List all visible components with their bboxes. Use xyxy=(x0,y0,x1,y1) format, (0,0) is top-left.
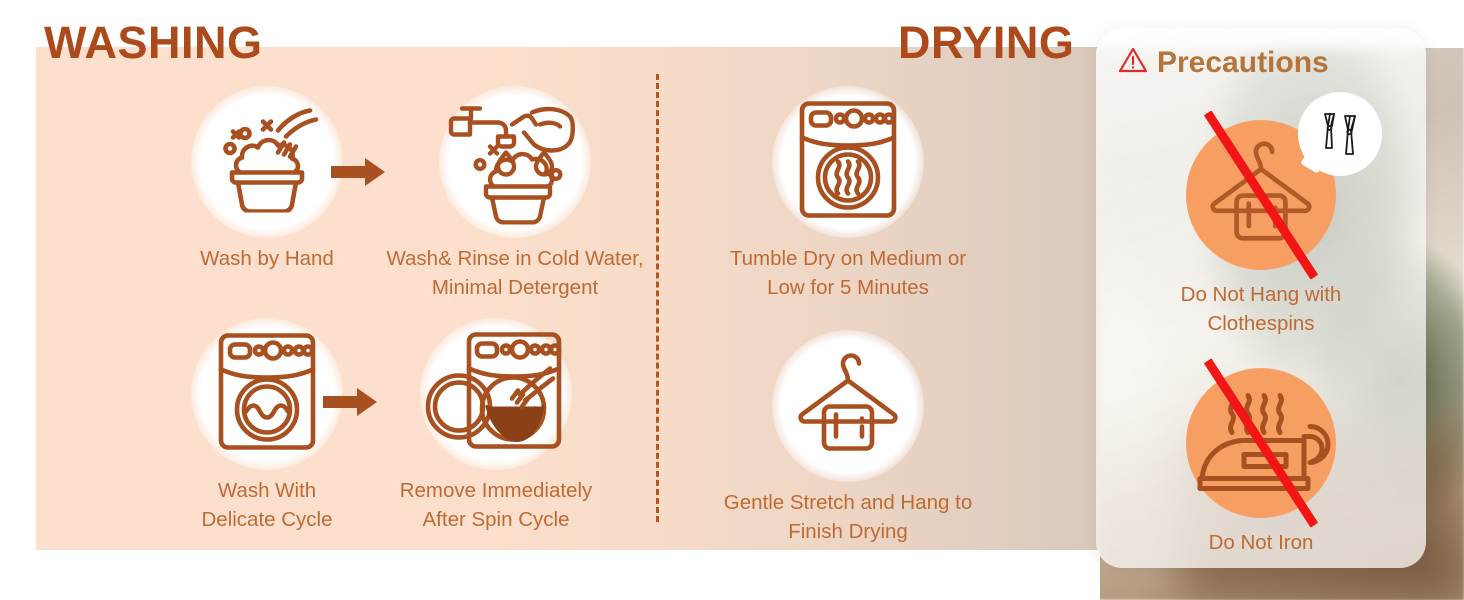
step-wash-rinse-cold-water: Wash& Rinse in Cold Water, Minimal Deter… xyxy=(380,86,650,302)
section-divider xyxy=(656,74,659,522)
icon-disc xyxy=(191,318,343,470)
arrow-right-icon xyxy=(331,155,387,194)
icon-disc xyxy=(420,318,572,470)
step-caption: Wash With Delicate Cycle xyxy=(152,476,382,534)
precaution-caption: Do Not Iron xyxy=(1096,528,1426,557)
left-white-band xyxy=(0,0,40,600)
hanger-cloth-icon xyxy=(786,345,910,468)
precaution-do-not-hang: Do Not Hang with Clothespins xyxy=(1096,120,1426,338)
precaution-caption: Do Not Hang with Clothespins xyxy=(1096,280,1426,338)
step-caption: Wash by Hand xyxy=(152,244,382,273)
precaution-circle xyxy=(1186,120,1336,270)
bottom-white-band xyxy=(0,550,1100,600)
step-remove-immediately: Remove Immediately After Spin Cycle xyxy=(378,318,614,534)
precautions-card: Precautions xyxy=(1096,28,1426,568)
precautions-header: Precautions xyxy=(1118,46,1329,79)
step-caption: Wash& Rinse in Cold Water, Minimal Deter… xyxy=(380,244,650,302)
precaution-circle xyxy=(1186,368,1336,518)
precaution-do-not-iron: Do Not Iron xyxy=(1096,368,1426,557)
washing-machine-icon xyxy=(213,330,321,459)
clothespins-icon xyxy=(1312,106,1368,162)
washing-section-title: WASHING xyxy=(44,20,263,65)
step-tumble-dry: Tumble Dry on Medium or Low for 5 Minute… xyxy=(700,86,996,302)
precautions-title: Precautions xyxy=(1157,48,1329,78)
hand-wash-basin-icon xyxy=(208,107,326,218)
faucet-detergent-basin-icon xyxy=(440,95,590,230)
care-instructions-infographic: WASHING DRYING Wash by Hand xyxy=(0,0,1464,600)
step-wash-delicate-cycle: Wash With Delicate Cycle xyxy=(152,318,382,534)
clothespins-badge xyxy=(1298,92,1382,176)
step-caption: Remove Immediately After Spin Cycle xyxy=(378,476,614,534)
arrow-right-icon xyxy=(323,385,379,424)
icon-disc xyxy=(772,330,924,482)
step-caption: Tumble Dry on Medium or Low for 5 Minute… xyxy=(700,244,996,302)
step-gentle-stretch-hang: Gentle Stretch and Hang to Finish Drying xyxy=(700,330,996,546)
icon-disc xyxy=(772,86,924,238)
tumble-dryer-icon xyxy=(794,98,902,227)
warning-triangle-icon xyxy=(1118,46,1148,79)
icon-disc xyxy=(191,86,343,238)
remove-laundry-icon xyxy=(425,329,567,460)
step-caption: Gentle Stretch and Hang to Finish Drying xyxy=(700,488,996,546)
icon-disc xyxy=(439,86,591,238)
drying-section-title: DRYING xyxy=(898,20,1074,65)
